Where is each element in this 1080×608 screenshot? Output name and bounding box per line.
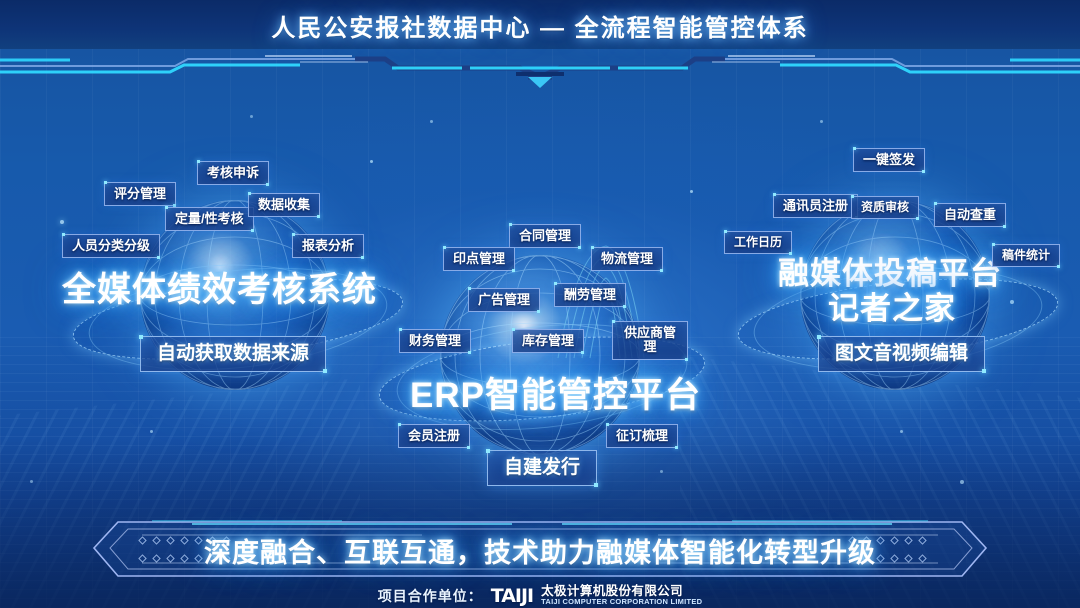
tag-performance-5[interactable]: 报表分析 [292,234,364,258]
slogan-banner: 深度融合、互联互通，技术助力融媒体智能化转型升级 [92,520,988,578]
tag-erp-5[interactable]: 财务管理 [399,329,471,353]
tag-erp-2[interactable]: 物流管理 [591,247,663,271]
sparkle-dot [30,480,33,483]
tag-performance-1[interactable]: 评分管理 [104,182,176,206]
sparkle-dot [430,120,433,123]
tag-media-highlight[interactable]: 图文音视频编辑 [818,336,985,372]
slide-canvas: 人民公安报社数据中心 — 全流程智能管控体系 [0,0,1080,608]
tag-erp-1[interactable]: 印点管理 [443,247,515,271]
tag-media-3[interactable]: 自动查重 [934,203,1006,227]
tag-erp-7[interactable]: 供应商管理 [612,321,688,360]
cluster-title-media-line2: 记者之家 [828,283,956,328]
sparkle-dot [820,120,823,123]
tag-erp-9[interactable]: 征订梳理 [606,424,678,448]
sparkle-dot [660,470,663,473]
slogan-text: 深度融合、互联互通，技术助力融媒体智能化转型升级 [92,531,988,570]
tag-erp-highlight[interactable]: 自建发行 [487,450,597,486]
tag-media-0[interactable]: 一键签发 [853,148,925,172]
tag-erp-4[interactable]: 酬劳管理 [554,283,626,307]
tag-erp-3[interactable]: 广告管理 [468,288,540,312]
page-title: 人民公安报社数据中心 — 全流程智能管控体系 [0,8,1080,43]
tag-erp-8[interactable]: 会员注册 [398,424,470,448]
tag-performance-3[interactable]: 数据收集 [248,193,320,217]
cluster-title-performance: 全媒体绩效考核系统 [62,262,377,311]
tag-media-4[interactable]: 工作日历 [724,231,792,254]
partner-company-en: TAIJI COMPUTER CORPORATION LIMITED [541,598,702,606]
partner-row: 项目合作单位： TAIJI 太极计算机股份有限公司 TAIJI COMPUTER… [0,583,1080,608]
sparkle-dot [960,480,964,484]
tag-media-1[interactable]: 通讯员注册 [773,194,858,218]
tag-media-5[interactable]: 稿件统计 [992,244,1060,267]
header-divider-decoration [0,48,1080,90]
sparkle-dot [150,430,153,433]
tag-performance-0[interactable]: 考核申诉 [197,161,269,185]
tag-performance-2[interactable]: 定量/性考核 [165,207,254,231]
tag-performance-4[interactable]: 人员分类分级 [62,234,160,258]
tag-erp-6[interactable]: 库存管理 [512,329,584,353]
tag-media-2[interactable]: 资质审核 [851,196,919,219]
partner-label: 项目合作单位： [378,586,483,606]
taiji-logo: TAIJI [491,585,533,607]
sparkle-dot [370,160,373,163]
cluster-title-erp: ERP智能管控平台 [410,367,701,418]
tag-erp-0[interactable]: 合同管理 [509,224,581,248]
tag-performance-highlight[interactable]: 自动获取数据来源 [140,336,326,372]
sparkle-dot [250,115,253,118]
sparkle-dot [690,190,693,193]
sparkle-dot [60,220,64,224]
partner-company-block: 太极计算机股份有限公司 TAIJI COMPUTER CORPORATION L… [541,585,702,606]
sparkle-dot [900,430,903,433]
